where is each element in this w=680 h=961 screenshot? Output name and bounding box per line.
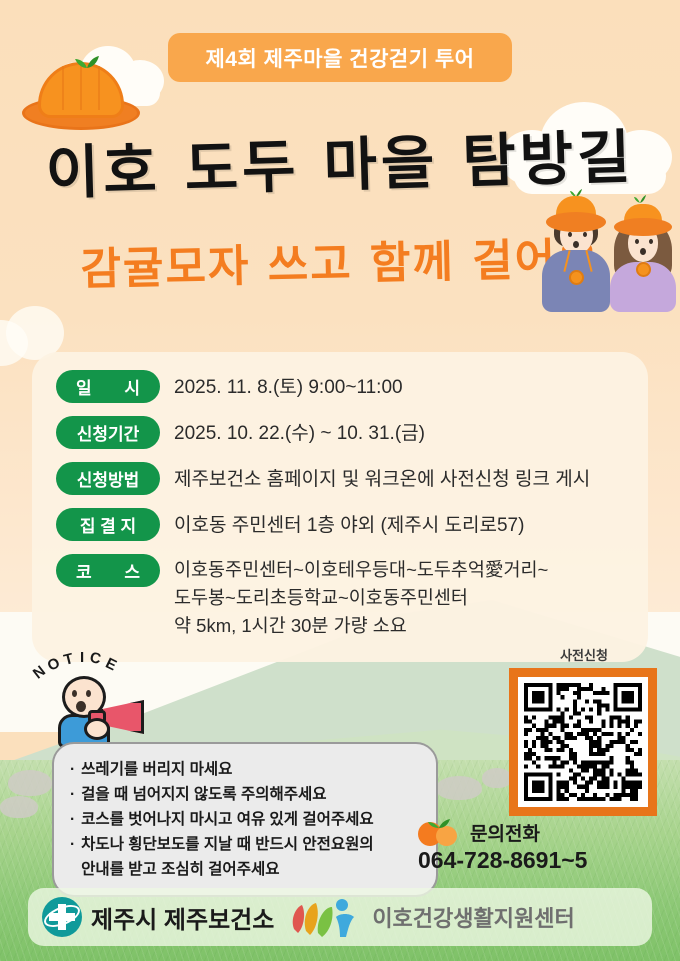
footer-org-left: 제주시 제주보건소 — [91, 900, 274, 935]
notice-item: · 쓰레기를 버리지 마세요 — [70, 757, 420, 782]
qr-code-frame[interactable] — [509, 668, 657, 816]
notice-item: · 코스를 벗어나지 마시고 여유 있게 걸어주세요 — [70, 807, 420, 832]
stem-icon — [634, 194, 646, 203]
orange-fruit-icon — [418, 818, 466, 846]
info-label-application-period: 신청기간 — [56, 416, 160, 449]
footer-org-right: 이호건강생활지원센터 — [372, 901, 574, 933]
info-value-application-period: 2025. 10. 22.(수) ~ 10. 31.(금) — [174, 416, 425, 449]
walker-couple-illustration — [536, 188, 680, 312]
leaf-icon — [74, 52, 100, 68]
qr-caption: 사전신청 — [509, 645, 659, 664]
info-label-date: 일 시 — [56, 370, 160, 403]
stone-decor — [436, 776, 482, 800]
poster-root: 제4회 제주마을 건강걷기 투어 이호 도두 마을 탐방길 감귤모자 쓰고 함께… — [0, 0, 680, 961]
bullet-icon: · — [70, 782, 75, 807]
info-value-meeting-place: 이호동 주민센터 1층 야외 (제주시 도리로57) — [174, 508, 524, 541]
jeju-health-center-logo — [42, 897, 82, 937]
notice-item-text: 걸을 때 넘어지지 않도록 주의해주세요 — [81, 782, 326, 807]
header-banner: 제4회 제주마을 건강걷기 투어 — [168, 33, 512, 82]
megaphone-icon — [56, 674, 156, 752]
info-row: 일 시 2025. 11. 8.(토) 9:00~11:00 — [32, 370, 648, 403]
contact-phone-number[interactable]: 064-728-8691~5 — [418, 847, 666, 874]
stone-decor — [482, 768, 512, 788]
info-row: 코 스 이호동주민센터~이호테우등대~도두추억愛거리~ 도두봉~도리초등학교~이… — [32, 554, 648, 640]
footer-logo-bar: 제주시 제주보건소 이호건강생활지원센터 — [28, 888, 652, 946]
info-label-meeting-place: 집 결 지 — [56, 508, 160, 541]
stone-decor — [8, 770, 52, 796]
notice-item-text: 쓰레기를 버리지 마세요 — [81, 757, 232, 782]
info-value-course: 이호동주민센터~이호테우등대~도두추억愛거리~ 도두봉~도리초등학교~이호동주민… — [174, 554, 548, 640]
notice-box: · 쓰레기를 버리지 마세요 · 걸을 때 넘어지지 않도록 주의해주세요 · … — [52, 742, 438, 897]
info-value-date: 2025. 11. 8.(토) 9:00~11:00 — [174, 370, 403, 403]
info-value-application-method: 제주보건소 홈페이지 및 워크온에 사전신청 링크 게시 — [174, 462, 590, 495]
notice-item-text: 코스를 벗어나지 마시고 여유 있게 걸어주세요 — [81, 807, 373, 832]
header-banner-text: 제4회 제주마을 건강걷기 투어 — [205, 43, 474, 73]
info-label-application-method: 신청방법 — [56, 462, 160, 495]
info-row: 집 결 지 이호동 주민센터 1층 야외 (제주시 도리로57) — [32, 508, 648, 541]
notice-item-text: 차도나 횡단보도를 지날 때 반드시 안전요원의 안내를 받고 조심히 걸어주세… — [81, 832, 373, 882]
bullet-icon: · — [70, 807, 75, 832]
bullet-icon: · — [70, 757, 75, 782]
contact-label: 문의전화 — [470, 819, 540, 846]
info-label-course: 코 스 — [56, 554, 160, 587]
notice-item: · 걸을 때 넘어지지 않도록 주의해주세요 — [70, 782, 420, 807]
stone-decor — [0, 796, 38, 818]
bullet-icon: · — [70, 832, 75, 882]
notice-item: · 차도나 횡단보도를 지날 때 반드시 안전요원의 안내를 받고 조심히 걸어… — [70, 832, 420, 882]
contact-section: 문의전화 064-728-8691~5 — [418, 818, 666, 874]
iho-health-living-support-center-logo — [288, 895, 364, 939]
qr-code-image[interactable] — [524, 683, 642, 801]
qr-section: 사전신청 — [509, 645, 659, 816]
info-row: 신청기간 2025. 10. 22.(수) ~ 10. 31.(금) — [32, 416, 648, 449]
info-row: 신청방법 제주보건소 홈페이지 및 워크온에 사전신청 링크 게시 — [32, 462, 648, 495]
tangerine-hat-icon — [22, 52, 142, 130]
info-rows: 일 시 2025. 11. 8.(토) 9:00~11:00 신청기간 2025… — [32, 352, 648, 653]
